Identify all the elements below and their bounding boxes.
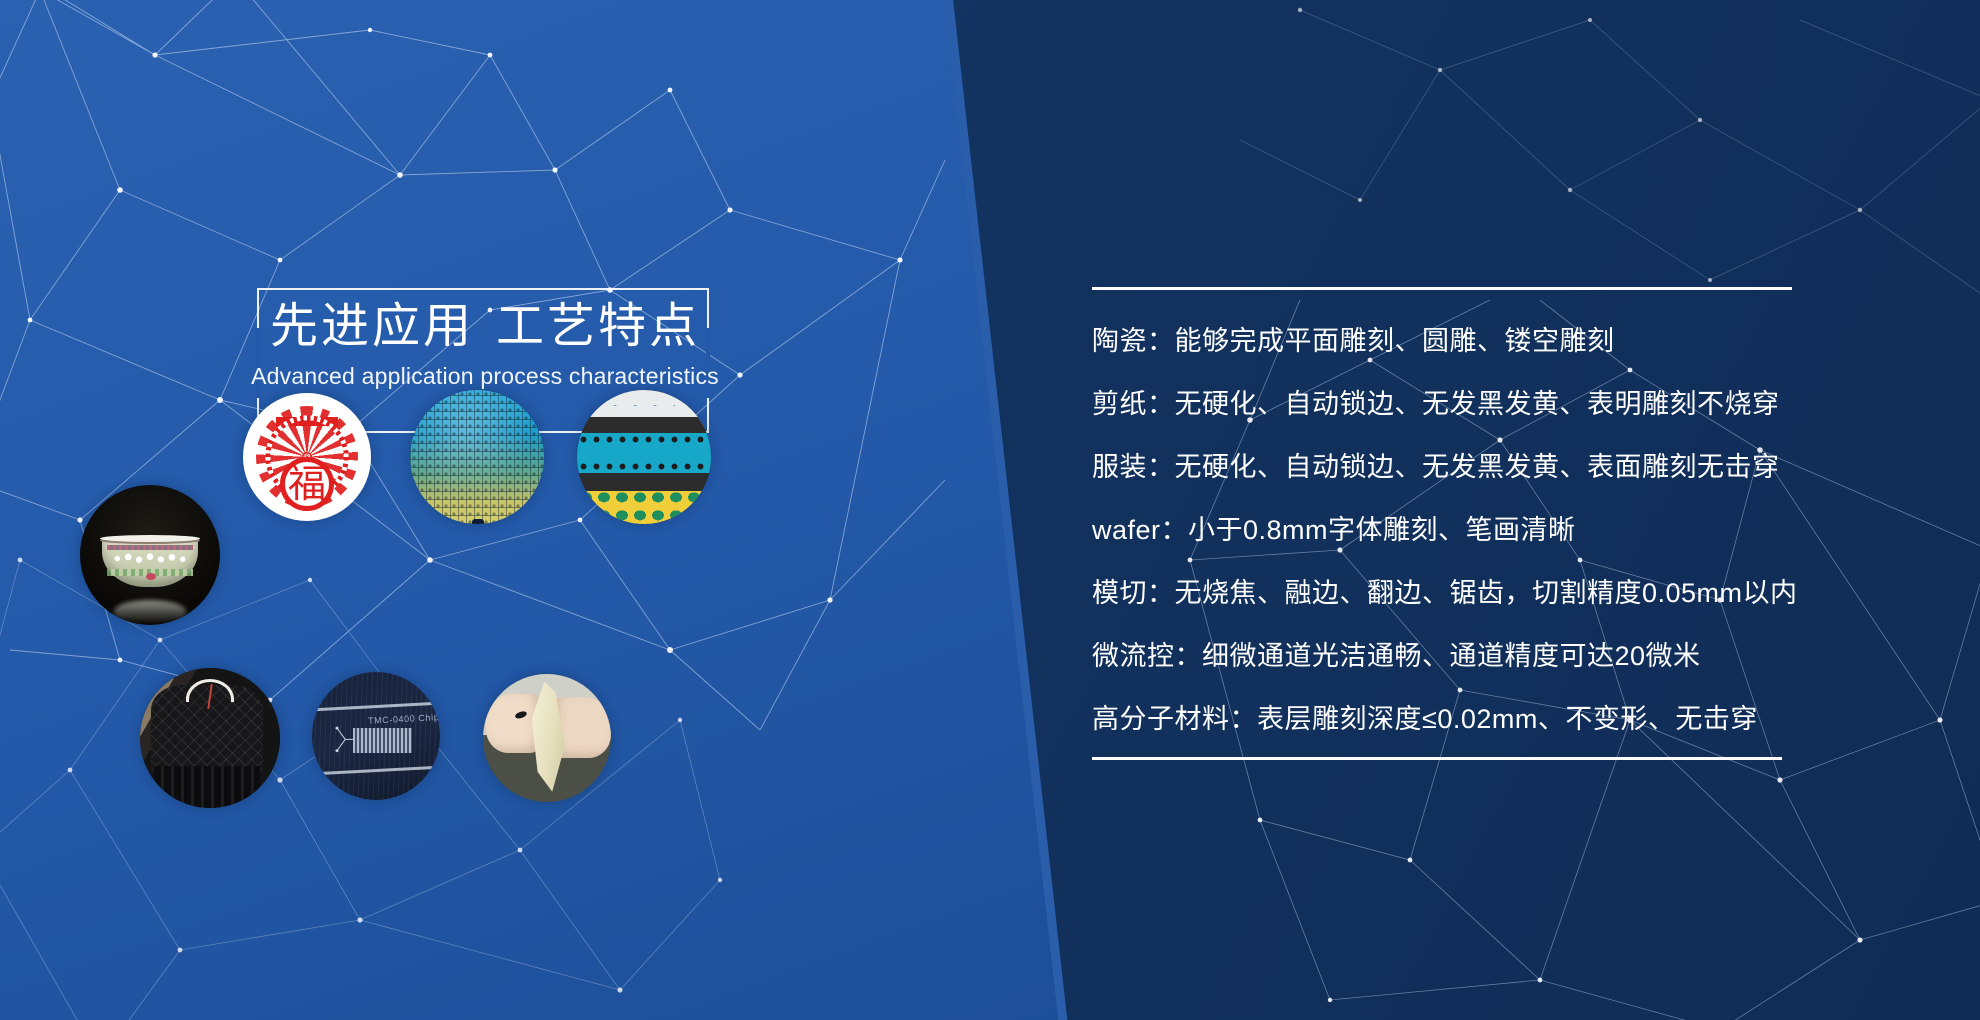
spec-item-apparel: 服装：无硬化、自动锁边、无发黑发黄、表面雕刻无击穿: [1092, 436, 1932, 499]
garment-art: [140, 668, 280, 808]
papercut-art: 福: [243, 393, 371, 521]
gallery-image-patterned-wafer[interactable]: [577, 390, 711, 524]
spec-item-polymer: 高分子材料：表层雕刻深度≤0.02mm、不变形、无击穿: [1092, 688, 1932, 751]
ceramic-bowl-art: [80, 485, 220, 625]
wafer-band-cyan-1: [577, 433, 711, 448]
gallery-image-silicon-wafer[interactable]: [410, 390, 544, 524]
spec-item-papercut: 剪纸：无硬化、自动锁边、无发黑发黄、表明雕刻不烧穿: [1092, 373, 1932, 436]
spec-divider-bottom: [1092, 757, 1782, 760]
spec-item-wafer: wafer：小于0.8mm字体雕刻、笔画清晰: [1092, 499, 1932, 562]
bowl-flower-motif: [146, 573, 156, 580]
title-block: 先进应用工艺特点 Advanced application process ch…: [225, 296, 745, 392]
bowl-engraving: [111, 551, 189, 566]
wafer-notch: [472, 519, 484, 524]
spec-item-diecut: 模切：无烧焦、融边、翻边、锯齿，切割精度0.05mm以内: [1092, 562, 1932, 625]
spec-list: 陶瓷：能够完成平面雕刻、圆雕、镂空雕刻 剪纸：无硬化、自动锁边、无发黑发黄、表明…: [1092, 310, 1932, 751]
wafer-band-cyan-3: [577, 460, 711, 473]
papercut-fu-glyph: 福: [280, 457, 334, 511]
gallery-image-polymer-membrane[interactable]: [483, 674, 611, 802]
wafer-band-dark-2: [577, 473, 711, 490]
bowl-rim: [100, 535, 201, 542]
bowl-reflection: [114, 600, 187, 622]
wafer-band-dark-1: [577, 417, 711, 433]
spec-divider-top: [1092, 287, 1792, 290]
chip-channel-array: [353, 728, 412, 752]
page-subtitle: Advanced application process characteris…: [225, 360, 745, 392]
spec-item-ceramic: 陶瓷：能够完成平面雕刻、圆雕、镂空雕刻: [1092, 310, 1932, 373]
spec-item-microfluidics: 微流控：细微通道光洁通畅、通道精度可达20微米: [1092, 625, 1932, 688]
slide-root: 先进应用工艺特点 Advanced application process ch…: [0, 0, 1980, 1020]
wafer-die-dots: [410, 390, 544, 524]
wafer-band-cyan-2: [577, 448, 711, 460]
bowl-band-top: [107, 545, 194, 551]
silicon-wafer-art: [410, 390, 544, 524]
chip-art: TMC-0400 Chip: [312, 672, 440, 800]
gallery-image-black-garment[interactable]: [140, 668, 280, 808]
page-title: 先进应用工艺特点: [225, 296, 745, 358]
gallery-image-ceramic-bowl[interactable]: [80, 485, 220, 625]
page-title-part2: 工艺特点: [496, 300, 700, 353]
patterned-wafer-art: [577, 390, 711, 524]
page-title-part1: 先进应用: [270, 300, 474, 353]
gallery-image-microfluidic-chip[interactable]: TMC-0400 Chip: [312, 672, 440, 800]
wafer-band-yellow: [577, 491, 711, 525]
polymer-art: [483, 674, 611, 802]
gallery-image-papercut[interactable]: 福: [243, 393, 371, 521]
garment-fringe: [154, 766, 260, 808]
